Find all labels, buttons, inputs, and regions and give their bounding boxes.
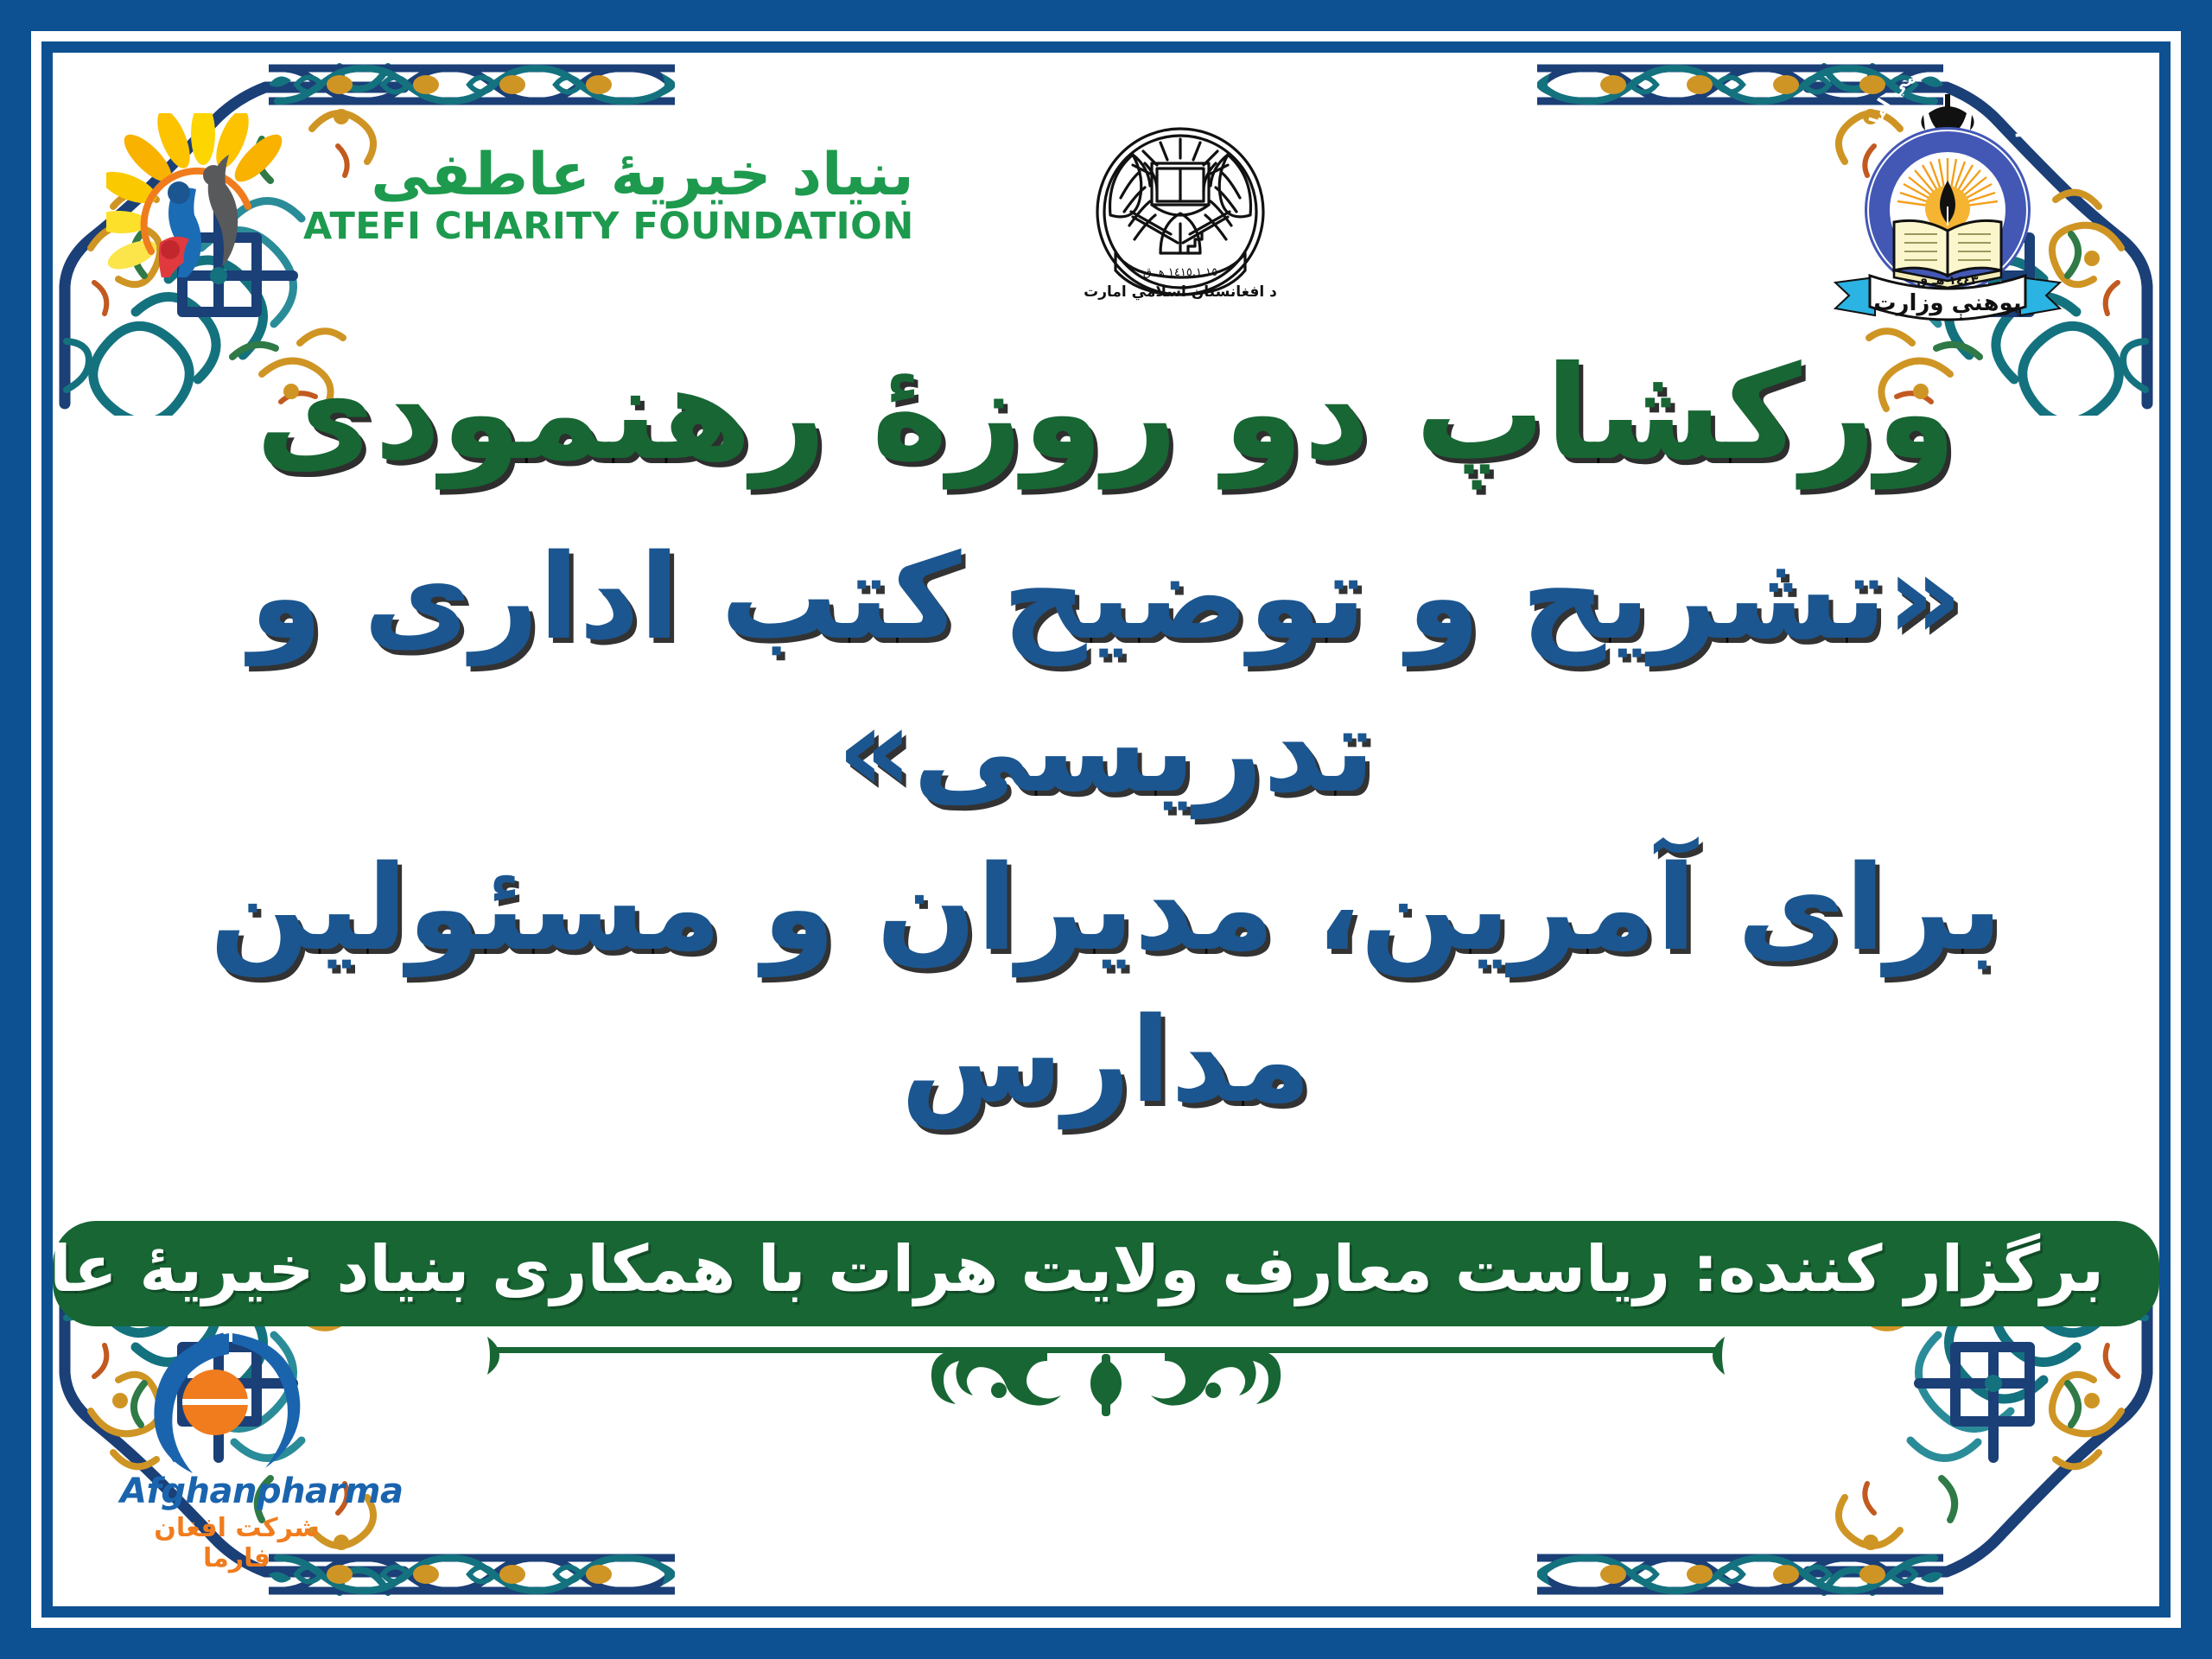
organizer-banner: برگزار کننده: ریاست معارف ولایت هرات با …	[53, 1221, 2159, 1326]
poster-headings: ورکشاپ دو روزهٔ رهنمودی «تشریح و توضیح ک…	[53, 338, 2159, 1138]
atefi-charity-logo: بنیاد خیریۀ عاطفی ATEFI CHARITY FOUNDATI…	[106, 113, 914, 277]
heading-line-2: «تشریح و توضیح کتب اداری و تدریسی»	[87, 522, 2125, 828]
sunburst-people-icon	[106, 113, 288, 277]
pill-crescent-icon	[120, 1330, 353, 1477]
moe-year: ١٤٤٣ هـ ق	[1917, 274, 1979, 288]
afghanpharma-name-en: Afghanpharma	[120, 1471, 353, 1511]
afghanistan-national-emblem-icon: ١٤١٥.١.١٥ هـ ق د افغانستان اسلامي امارت	[1081, 115, 1280, 305]
emblem-year: ١٤١٥.١.١٥ هـ ق	[1143, 266, 1217, 279]
heading-line-3: برای آمرین، مدیران و مسئولین مدارس	[87, 833, 2125, 1139]
atefi-name-fa: بنیاد خیریۀ عاطفی	[371, 146, 913, 205]
ornament-band-bottom-right	[1537, 1548, 1943, 1601]
organizer-banner-wrap: برگزار کننده: ریاست معارف ولایت هرات با …	[53, 1221, 2159, 1326]
poster-canvas: بنیاد خیریۀ عاطفی ATEFI CHARITY FOUNDATI…	[53, 53, 2159, 1606]
atefi-logo-text: بنیاد خیریۀ عاطفی ATEFI CHARITY FOUNDATI…	[303, 146, 914, 245]
poster-root: بنیاد خیریۀ عاطفی ATEFI CHARITY FOUNDATI…	[0, 0, 2212, 1659]
atefi-name-en: ATEFI CHARITY FOUNDATION	[303, 208, 914, 245]
ministry-of-education-seal-icon: د افغانستان اسلامي امارت	[1818, 79, 2077, 329]
ornament-band-top-left	[269, 58, 675, 111]
floral-flourish-divider-icon	[467, 1330, 1745, 1442]
moe-ribbon-text: پوهنې وزارت	[1873, 290, 2021, 319]
heading-line-1: ورکشاپ دو روزهٔ رهنمودی	[105, 338, 2107, 491]
heading-lines-blue: «تشریح و توضیح کتب اداری و تدریسی» برای …	[87, 522, 2125, 1138]
emblem-legend: د افغانستان اسلامي امارت	[1084, 283, 1277, 301]
organizer-banner-text: برگزار کننده: ریاست معارف ولایت هرات با …	[108, 1236, 2104, 1304]
afghanpharma-name-fa: شرکت افغان فارما	[120, 1513, 353, 1573]
afghanpharma-logo: Afghanpharma شرکت افغان فارما	[120, 1330, 353, 1546]
